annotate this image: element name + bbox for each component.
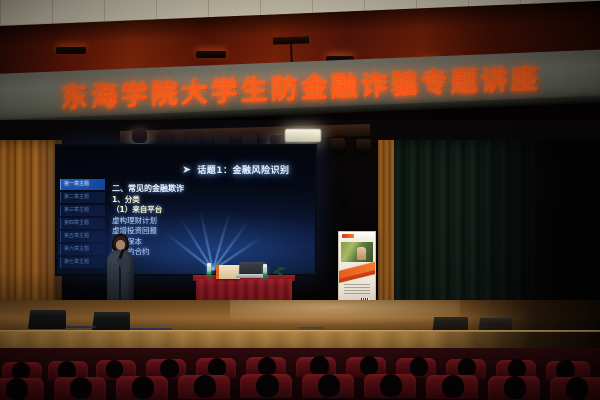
hanging-lamp-icon (273, 36, 309, 44)
slide-line: 1、分类 (112, 195, 262, 205)
stage-light-icon (132, 130, 147, 143)
audience-head (360, 356, 378, 375)
audience-head (194, 375, 216, 398)
rollup-header (339, 232, 375, 240)
stage-cable (66, 326, 96, 328)
stage-monitor-speaker (28, 310, 66, 329)
slide-nav-item-7[interactable]: 第七章主题 (60, 257, 105, 268)
audience-head (6, 378, 28, 400)
audience-area (0, 348, 600, 400)
bottle-cap (263, 264, 267, 267)
audience-head (410, 357, 428, 376)
audience-head (70, 377, 92, 399)
slide-nav-item-2[interactable]: 第二章主题 (60, 192, 105, 203)
water-bottle (207, 265, 211, 278)
apple-logo-icon (71, 154, 84, 169)
arrow-right-icon: ➤ (182, 163, 191, 176)
auditorium-photo: 东海学院大学生防金融诈骗专题讲座 第一章主题 第二章主题 第三章主题 (0, 0, 600, 400)
audience-head (132, 376, 154, 399)
audience-head (566, 377, 588, 400)
slide-line: 虚增投资回报 (112, 226, 262, 236)
audience-head (160, 359, 179, 378)
rollup-text-block (344, 284, 370, 296)
audience-head (256, 374, 279, 397)
slide-chapter-nav[interactable]: 第一章主题 第二章主题 第三章主题 第四章主题 第五章主题 第六章主题 第七章主… (60, 179, 105, 268)
slide-nav-item-1[interactable]: 第一章主题 (60, 179, 105, 190)
audience-head (318, 374, 340, 397)
water-bottle (263, 266, 267, 279)
stage-light-icon (330, 138, 345, 151)
laptop[interactable] (236, 262, 266, 278)
rollup-photo (341, 242, 373, 262)
audience-head (310, 356, 329, 376)
audience-head (504, 376, 526, 399)
bottle-cap (207, 263, 211, 266)
projection-screen[interactable]: 第一章主题 第二章主题 第三章主题 第四章主题 第五章主题 第六章主题 第七章主… (55, 144, 317, 276)
plant-leaf (277, 271, 285, 277)
slide-nav-item-4[interactable]: 第四章主题 (60, 218, 105, 229)
slide-title-row: ➤ 话题1：金融风险识别 (182, 163, 289, 176)
wall-light-fixture (196, 51, 226, 58)
stage-monitor-speaker (92, 312, 130, 331)
slide-line: （1）来自平台 (112, 205, 262, 215)
stage-cable (298, 327, 324, 329)
slide-nav-item-6[interactable]: 第六章主题 (60, 244, 105, 255)
stage-light-icon (356, 139, 371, 152)
rollup-logo-icon (342, 234, 354, 238)
slide-nav-item-3[interactable]: 第三章主题 (60, 205, 105, 216)
gold-curtain-strip (378, 140, 394, 318)
stage-light-icon (158, 131, 173, 144)
slide-line: 虚构理财计划 (112, 216, 262, 226)
gold-curtain-left (0, 140, 62, 318)
roll-up-banner (338, 231, 376, 309)
slide-nav-item-5[interactable]: 第五章主题 (60, 231, 105, 242)
audience-head (442, 375, 464, 398)
truss-floodlight-icon (285, 129, 321, 142)
right-shadow-fade (470, 140, 600, 320)
slide-line: 二、常见的金融欺诈 (112, 184, 262, 194)
slide-surface: 第一章主题 第二章主题 第三章主题 第四章主题 第五章主题 第六章主题 第七章主… (57, 146, 315, 274)
slide-title: 话题1：金融风险识别 (197, 163, 289, 176)
table-plant (273, 266, 287, 279)
audience-head (380, 374, 402, 397)
wall-light-fixture (56, 47, 86, 54)
